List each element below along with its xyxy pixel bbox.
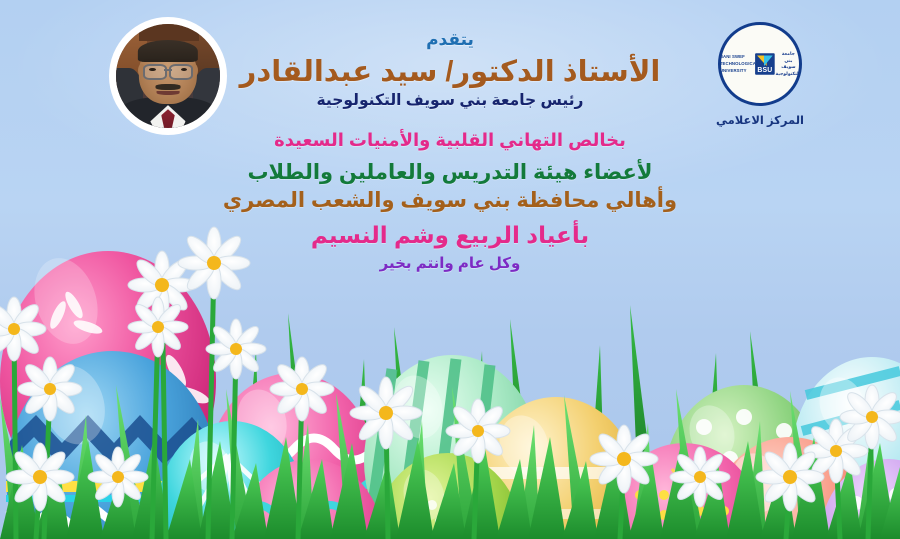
logo-english-text: BANI SWEFTECHNOLOGICALUNIVERSITY bbox=[720, 54, 753, 73]
portrait-bg-top bbox=[139, 24, 199, 41]
logo-inner: جامعةبني سويفالتكنولوجية BSU BANI SWEFTE… bbox=[720, 51, 800, 77]
message-audience-1: لأعضاء هيئة التدريس والعاملين والطلاب bbox=[0, 160, 900, 185]
university-logo-icon: جامعةبني سويفالتكنولوجية BSU BANI SWEFTE… bbox=[718, 22, 802, 106]
portrait-moustache bbox=[156, 84, 181, 89]
easter-scene-illustration bbox=[0, 209, 900, 539]
logo-bsu-mark-icon: BSU bbox=[755, 53, 775, 75]
portrait-photo bbox=[116, 24, 220, 128]
university-logo-block: جامعةبني سويفالتكنولوجية BSU BANI SWEFTE… bbox=[700, 22, 820, 127]
portrait-eye-right bbox=[181, 68, 187, 71]
logo-mark-label: BSU bbox=[755, 66, 775, 75]
greeting-card: جامعةبني سويفالتكنولوجية BSU BANI SWEFTE… bbox=[0, 0, 900, 539]
logo-arabic-text: جامعةبني سويفالتكنولوجية bbox=[777, 51, 801, 77]
glasses-lens-right-icon bbox=[169, 64, 193, 80]
avatar bbox=[112, 20, 224, 132]
glasses-bridge-icon bbox=[164, 69, 172, 71]
easter-scene-svg bbox=[0, 209, 900, 539]
message-greeting: بخالص التهاني القلبية والأمنيات السعيدة bbox=[0, 130, 900, 151]
glasses-lens-left-icon bbox=[143, 64, 167, 80]
portrait-eye-left bbox=[149, 68, 155, 71]
media-center-label: المركز الاعلامي bbox=[700, 113, 820, 127]
